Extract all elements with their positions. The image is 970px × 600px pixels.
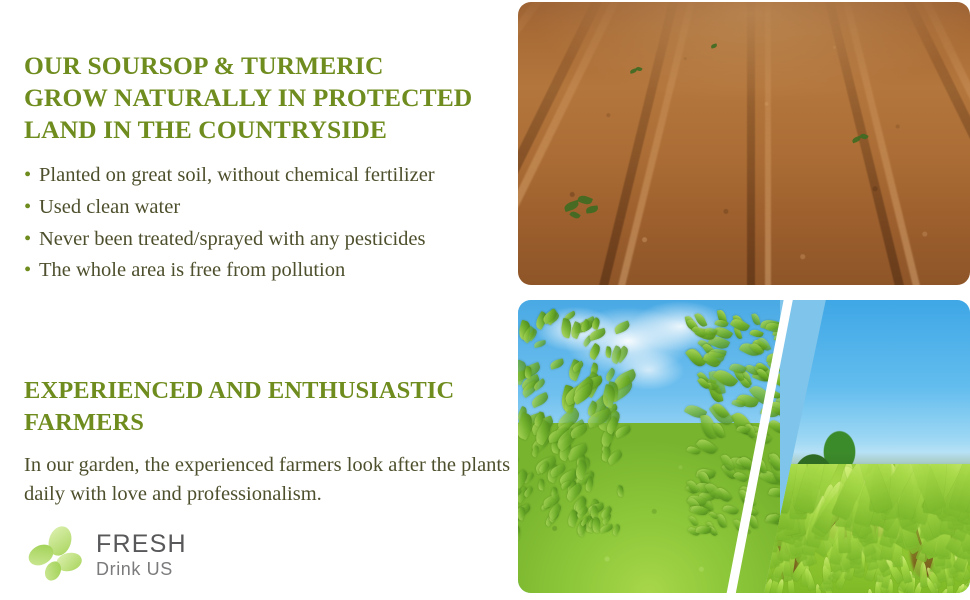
list-item-label: Used clean water bbox=[39, 196, 180, 218]
logo-tagline: Drink US bbox=[96, 560, 187, 578]
turmeric-half bbox=[764, 300, 970, 593]
section-two-body: In our garden, the experienced farmers l… bbox=[24, 451, 512, 509]
section-farmers: EXPERIENCED AND ENTHUSIASTIC FARMERS In … bbox=[24, 375, 512, 509]
text-column: OUR SOURSOP & TURMERIC GROW NATURALLY IN… bbox=[0, 0, 518, 600]
list-item-label: Planted on great soil, without chemical … bbox=[39, 164, 435, 186]
list-item-label: The whole area is free from pollution bbox=[39, 259, 345, 281]
bullet-icon: • bbox=[24, 255, 31, 287]
logo-name: FRESH bbox=[96, 532, 187, 557]
section-two-heading: EXPERIENCED AND ENTHUSIASTIC FARMERS bbox=[24, 375, 512, 439]
promo-banner: OUR SOURSOP & TURMERIC GROW NATURALLY IN… bbox=[0, 0, 970, 600]
benefits-list: • Planted on great soil, without chemica… bbox=[24, 160, 514, 286]
split-orchard-turmeric-photo bbox=[518, 300, 970, 593]
section-soursop-turmeric: OUR SOURSOP & TURMERIC GROW NATURALLY IN… bbox=[24, 50, 514, 287]
plowed-soil-field-photo bbox=[518, 2, 970, 285]
bullet-icon: • bbox=[24, 192, 31, 224]
image-column bbox=[518, 0, 970, 600]
list-item: • The whole area is free from pollution bbox=[24, 255, 514, 287]
list-item: • Planted on great soil, without chemica… bbox=[24, 160, 514, 192]
list-item: • Never been treated/sprayed with any pe… bbox=[24, 224, 514, 256]
brand-logo: FRESH Drink US bbox=[26, 522, 216, 588]
list-item-label: Never been treated/sprayed with any pest… bbox=[39, 228, 426, 250]
four-leaves-icon bbox=[26, 524, 90, 586]
bullet-icon: • bbox=[24, 224, 31, 256]
logo-wordmark: FRESH Drink US bbox=[96, 532, 187, 578]
list-item: • Used clean water bbox=[24, 192, 514, 224]
bullet-icon: • bbox=[24, 160, 31, 192]
section-one-heading: OUR SOURSOP & TURMERIC GROW NATURALLY IN… bbox=[24, 50, 514, 146]
